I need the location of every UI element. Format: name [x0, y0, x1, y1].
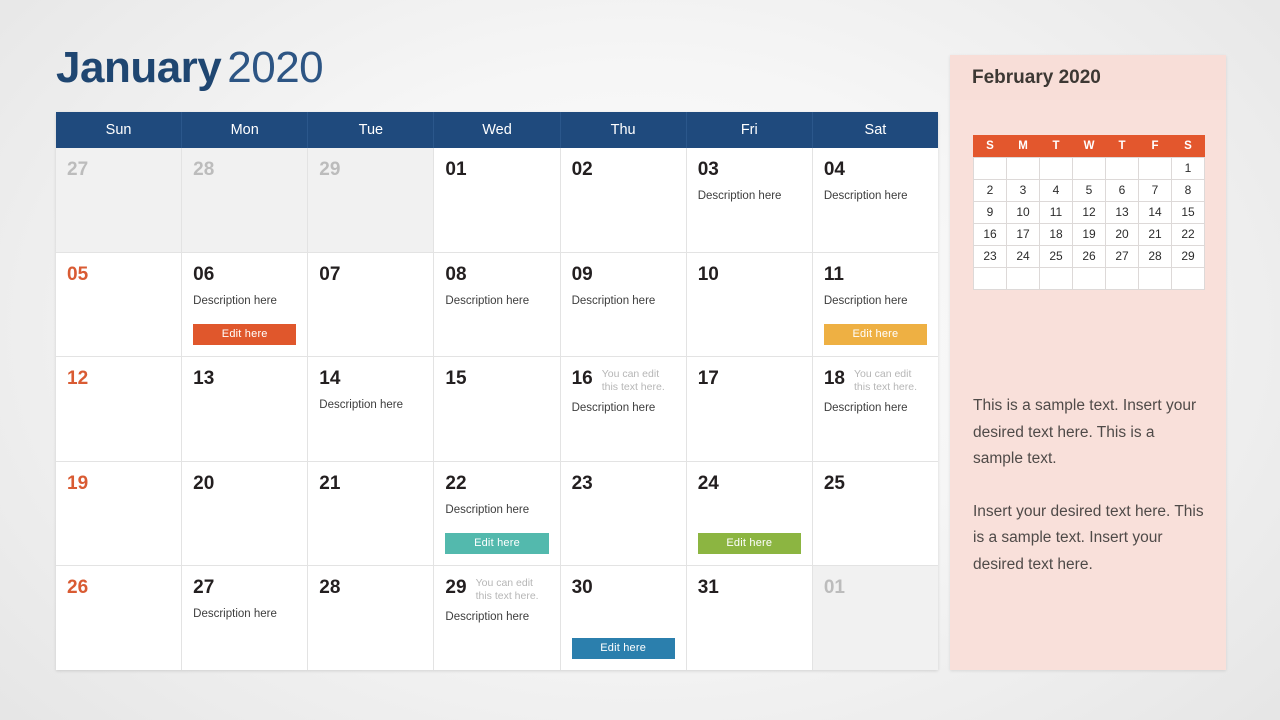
slide-canvas: January2020 SunMonTueWedThuFriSat 272829…: [0, 0, 1280, 720]
mini-day-cell-empty: [1138, 267, 1172, 290]
day-number: 07: [319, 264, 340, 286]
page-title-year: 2020: [227, 43, 323, 92]
day-cell-29[interactable]: 29: [308, 148, 434, 252]
mini-day-cell-empty: [1138, 157, 1172, 180]
mini-day-cell-5[interactable]: 5: [1072, 179, 1106, 202]
mini-day-cell-empty: [1171, 267, 1205, 290]
day-cell-03[interactable]: 03Description here: [687, 148, 813, 252]
day-cell-07[interactable]: 07: [308, 253, 434, 357]
page-title-month: January: [56, 43, 221, 92]
day-description: Description here: [445, 294, 548, 308]
day-number: 04: [824, 159, 845, 181]
mini-weekday-header: M: [1006, 135, 1040, 158]
mini-day-cell-26[interactable]: 26: [1072, 245, 1106, 268]
mini-day-cell-empty: [1006, 157, 1040, 180]
weekday-header-wed: Wed: [434, 112, 560, 148]
day-cell-27[interactable]: 27Description here: [182, 566, 308, 670]
calendar-body: 272829010203Description here04Descriptio…: [56, 148, 938, 670]
day-description: Description here: [319, 398, 422, 412]
day-cell-24[interactable]: 24Edit here: [687, 462, 813, 566]
mini-weekday-header: S: [973, 135, 1007, 158]
mini-day-cell-empty: [1105, 157, 1139, 180]
mini-day-cell-11[interactable]: 11: [1039, 201, 1073, 224]
day-description: Description here: [698, 189, 801, 203]
day-number: 23: [572, 473, 593, 495]
mini-day-cell-25[interactable]: 25: [1039, 245, 1073, 268]
day-description: Description here: [572, 401, 675, 415]
day-cell-22[interactable]: 22Description hereEdit here: [434, 462, 560, 566]
day-cell-04[interactable]: 04Description here: [813, 148, 938, 252]
day-cell-05[interactable]: 05: [56, 253, 182, 357]
weekday-header-thu: Thu: [561, 112, 687, 148]
day-number: 21: [319, 473, 340, 495]
day-description: Description here: [824, 401, 927, 415]
day-description: Description here: [824, 189, 927, 203]
day-number: 27: [193, 577, 214, 599]
calendar-week-row: 272829010203Description here04Descriptio…: [56, 148, 938, 253]
mini-day-cell-29[interactable]: 29: [1171, 245, 1205, 268]
weekday-header-sun: Sun: [56, 112, 182, 148]
day-cell-30[interactable]: 30Edit here: [561, 566, 687, 670]
day-cell-10[interactable]: 10: [687, 253, 813, 357]
mini-calendar: SMTWTFS123456789101112131415161718192021…: [973, 135, 1204, 289]
day-cell-08[interactable]: 08Description here: [434, 253, 560, 357]
day-number: 25: [824, 473, 845, 495]
mini-day-cell-14[interactable]: 14: [1138, 201, 1172, 224]
day-cell-11[interactable]: 11Description hereEdit here: [813, 253, 938, 357]
edit-here-button[interactable]: Edit here: [572, 638, 675, 659]
day-cell-28[interactable]: 28: [182, 148, 308, 252]
day-number: 05: [67, 264, 88, 286]
mini-day-cell-9[interactable]: 9: [973, 201, 1007, 224]
day-cell-28[interactable]: 28: [308, 566, 434, 670]
mini-day-cell-7[interactable]: 7: [1138, 179, 1172, 202]
mini-day-cell-10[interactable]: 10: [1006, 201, 1040, 224]
mini-day-cell-empty: [1072, 267, 1106, 290]
mini-day-cell-24[interactable]: 24: [1006, 245, 1040, 268]
edit-here-button[interactable]: Edit here: [445, 533, 548, 554]
mini-weekday-header: T: [1039, 135, 1073, 158]
day-description: Description here: [193, 294, 296, 308]
day-cell-01[interactable]: 01: [434, 148, 560, 252]
day-cell-01[interactable]: 01: [813, 566, 938, 670]
weekday-header-mon: Mon: [182, 112, 308, 148]
calendar-week-row: 2627Description here2829You can edit thi…: [56, 566, 938, 670]
weekday-header-tue: Tue: [308, 112, 434, 148]
day-number: 28: [193, 159, 214, 181]
day-number: 27: [67, 159, 88, 181]
panel-text-block: This is a sample text. Insert your desir…: [973, 393, 1204, 578]
day-note: You can edit this text here.: [476, 577, 548, 602]
day-number: 03: [698, 159, 719, 181]
mini-weekday-header: S: [1171, 135, 1205, 158]
calendar-week-row: 19202122Description hereEdit here2324Edi…: [56, 462, 938, 567]
panel-paragraph: Insert your desired text here. This is a…: [973, 499, 1204, 579]
day-cell-18[interactable]: 18You can edit this text here.Descriptio…: [813, 357, 938, 461]
mini-day-cell-3[interactable]: 3: [1006, 179, 1040, 202]
mini-day-cell-6[interactable]: 6: [1105, 179, 1139, 202]
day-number: 20: [193, 473, 214, 495]
day-number: 29: [319, 159, 340, 181]
day-cell-16[interactable]: 16You can edit this text here.Descriptio…: [561, 357, 687, 461]
mini-day-cell-21[interactable]: 21: [1138, 223, 1172, 246]
day-description: Description here: [445, 610, 548, 624]
mini-day-cell-19[interactable]: 19: [1072, 223, 1106, 246]
mini-weekday-header: F: [1138, 135, 1172, 158]
day-cell-19[interactable]: 19: [56, 462, 182, 566]
day-cell-06[interactable]: 06Description hereEdit here: [182, 253, 308, 357]
day-cell-27[interactable]: 27: [56, 148, 182, 252]
day-cell-15[interactable]: 15: [434, 357, 560, 461]
mini-day-cell-16[interactable]: 16: [973, 223, 1007, 246]
day-number: 08: [445, 264, 466, 286]
mini-day-cell-12[interactable]: 12: [1072, 201, 1106, 224]
day-description: Description here: [572, 294, 675, 308]
panel-paragraph: This is a sample text. Insert your desir…: [973, 393, 1204, 473]
day-number: 31: [698, 577, 719, 599]
mini-day-cell-28[interactable]: 28: [1138, 245, 1172, 268]
day-number: 30: [572, 577, 593, 599]
edit-here-button[interactable]: Edit here: [193, 324, 296, 345]
day-cell-26[interactable]: 26: [56, 566, 182, 670]
day-number: 17: [698, 368, 719, 390]
mini-day-cell-empty: [1039, 267, 1073, 290]
day-number: 28: [319, 577, 340, 599]
mini-weekday-header: T: [1105, 135, 1139, 158]
day-cell-23[interactable]: 23: [561, 462, 687, 566]
calendar-week-row: 0506Description hereEdit here0708Descrip…: [56, 253, 938, 358]
day-number: 18: [824, 368, 845, 390]
day-number: 24: [698, 473, 719, 495]
day-cell-21[interactable]: 21: [308, 462, 434, 566]
mini-day-cell-22[interactable]: 22: [1171, 223, 1205, 246]
mini-day-cell-1[interactable]: 1: [1171, 157, 1205, 180]
mini-calendar-week-row: 2345678: [973, 179, 1204, 201]
mini-calendar-week-row: 23242526272829: [973, 245, 1204, 267]
day-number: 12: [67, 368, 88, 390]
day-cell-31[interactable]: 31: [687, 566, 813, 670]
weekday-header-sat: Sat: [813, 112, 938, 148]
day-cell-17[interactable]: 17: [687, 357, 813, 461]
day-cell-09[interactable]: 09Description here: [561, 253, 687, 357]
day-number: 02: [572, 159, 593, 181]
day-cell-20[interactable]: 20: [182, 462, 308, 566]
mini-day-cell-17[interactable]: 17: [1006, 223, 1040, 246]
mini-day-cell-15[interactable]: 15: [1171, 201, 1205, 224]
edit-here-button[interactable]: Edit here: [824, 324, 927, 345]
mini-day-cell-empty: [1039, 157, 1073, 180]
day-cell-02[interactable]: 02: [561, 148, 687, 252]
day-cell-29[interactable]: 29You can edit this text here.Descriptio…: [434, 566, 560, 670]
day-cell-12[interactable]: 12: [56, 357, 182, 461]
mini-day-cell-empty: [1006, 267, 1040, 290]
mini-day-cell-23[interactable]: 23: [973, 245, 1007, 268]
day-note: You can edit this text here.: [602, 368, 674, 393]
mini-calendar-week-row: [973, 267, 1204, 289]
day-number: 13: [193, 368, 214, 390]
mini-day-cell-20[interactable]: 20: [1105, 223, 1139, 246]
day-number: 06: [193, 264, 214, 286]
day-number: 14: [319, 368, 340, 390]
panel-title: February 2020: [950, 55, 1226, 100]
mini-calendar-header-row: SMTWTFS: [973, 135, 1204, 157]
day-number: 09: [572, 264, 593, 286]
day-number: 11: [824, 264, 844, 286]
day-number: 19: [67, 473, 88, 495]
day-number: 01: [824, 577, 845, 599]
day-number: 16: [572, 368, 593, 390]
day-description: Description here: [824, 294, 927, 308]
day-number: 15: [445, 368, 466, 390]
day-cell-25[interactable]: 25: [813, 462, 938, 566]
day-number: 22: [445, 473, 466, 495]
mini-calendar-week-row: 9101112131415: [973, 201, 1204, 223]
day-description: Description here: [193, 607, 296, 621]
edit-here-button[interactable]: Edit here: [698, 533, 801, 554]
day-number: 29: [445, 577, 466, 599]
mini-weekday-header: W: [1072, 135, 1106, 158]
side-panel: February 2020 SMTWTFS1234567891011121314…: [950, 55, 1226, 670]
weekday-header-fri: Fri: [687, 112, 813, 148]
day-description: Description here: [445, 503, 548, 517]
day-number: 01: [445, 159, 466, 181]
mini-day-cell-13[interactable]: 13: [1105, 201, 1139, 224]
mini-day-cell-2[interactable]: 2: [973, 179, 1007, 202]
mini-day-cell-empty: [1072, 157, 1106, 180]
day-cell-13[interactable]: 13: [182, 357, 308, 461]
main-calendar: SunMonTueWedThuFriSat 272829010203Descri…: [56, 112, 938, 670]
mini-day-cell-27[interactable]: 27: [1105, 245, 1139, 268]
mini-day-cell-4[interactable]: 4: [1039, 179, 1073, 202]
mini-day-cell-empty: [973, 267, 1007, 290]
mini-day-cell-8[interactable]: 8: [1171, 179, 1205, 202]
mini-day-cell-empty: [1105, 267, 1139, 290]
mini-day-cell-empty: [973, 157, 1007, 180]
weekday-header-row: SunMonTueWedThuFriSat: [56, 112, 938, 148]
calendar-week-row: 121314Description here1516You can edit t…: [56, 357, 938, 462]
day-note: You can edit this text here.: [854, 368, 926, 393]
mini-calendar-week-row: 16171819202122: [973, 223, 1204, 245]
page-title: January2020: [56, 42, 323, 94]
day-cell-14[interactable]: 14Description here: [308, 357, 434, 461]
day-number: 26: [67, 577, 88, 599]
day-number: 10: [698, 264, 719, 286]
mini-calendar-week-row: 1: [973, 157, 1204, 179]
mini-day-cell-18[interactable]: 18: [1039, 223, 1073, 246]
